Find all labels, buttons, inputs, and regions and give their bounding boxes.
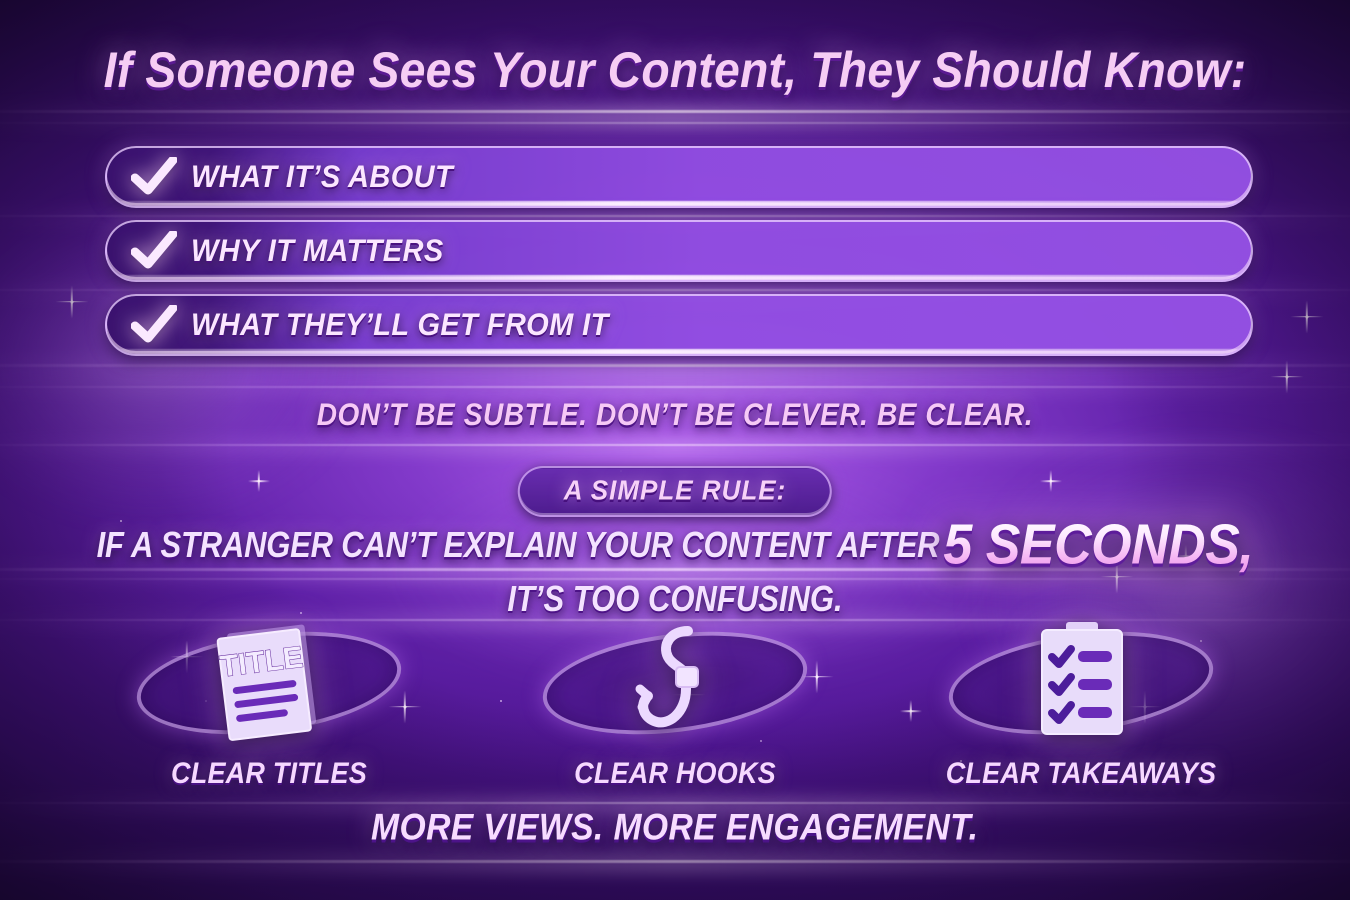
icon-row: TITLE CLEAR TITLES bbox=[0, 612, 1350, 789]
feature-clear-hooks[interactable]: CLEAR HOOKS bbox=[530, 612, 820, 789]
checklist-item-3[interactable]: WHAT THEY’LL GET FROM IT bbox=[105, 294, 1253, 356]
simple-rule-badge-label: A SIMPLE RULE: bbox=[564, 474, 786, 507]
check-icon bbox=[117, 305, 191, 345]
tagline-text: DON’T BE SUBTLE. DON’T BE CLEVER. BE CLE… bbox=[0, 397, 1350, 433]
document-title-icon: TITLE bbox=[124, 612, 414, 752]
footer-label: MORE VIEWS. MORE ENGAGEMENT. bbox=[371, 806, 978, 849]
feature-art: TITLE bbox=[124, 612, 414, 752]
fishing-hook-icon bbox=[530, 612, 820, 752]
checklist-item-1[interactable]: WHAT IT’S ABOUT bbox=[105, 146, 1253, 208]
checklist-item-label: WHY IT MATTERS bbox=[191, 233, 444, 269]
feature-label: CLEAR TITLES bbox=[171, 756, 367, 790]
rule-lead-text: IF A STRANGER CAN’T EXPLAIN YOUR CONTENT… bbox=[97, 526, 940, 563]
checklist-item-label: WHAT THEY’LL GET FROM IT bbox=[191, 307, 609, 343]
footer-text: MORE VIEWS. MORE ENGAGEMENT. bbox=[0, 808, 1350, 846]
feature-clear-titles[interactable]: TITLE CLEAR TITLES bbox=[124, 612, 414, 789]
checklist-item-label: WHAT IT’S ABOUT bbox=[191, 159, 453, 195]
clipboard-checklist-icon bbox=[936, 612, 1226, 752]
rule-line-1: IF A STRANGER CAN’T EXPLAIN YOUR CONTENT… bbox=[0, 519, 1350, 571]
checklist-item-2[interactable]: WHY IT MATTERS bbox=[105, 220, 1253, 282]
content-layer: If Someone Sees Your Content, They Shoul… bbox=[0, 0, 1350, 900]
feature-art bbox=[936, 612, 1226, 752]
feature-clear-takeaways[interactable]: CLEAR TAKEAWAYS bbox=[936, 612, 1226, 789]
check-icon bbox=[117, 231, 191, 271]
check-icon bbox=[117, 157, 191, 197]
simple-rule-badge: A SIMPLE RULE: bbox=[518, 466, 832, 517]
rule-emphasis-text: 5 SECONDS, bbox=[943, 517, 1253, 573]
infographic-canvas: If Someone Sees Your Content, They Shoul… bbox=[0, 0, 1350, 900]
page-title: If Someone Sees Your Content, They Shoul… bbox=[0, 41, 1350, 99]
feature-art bbox=[530, 612, 820, 752]
feature-label: CLEAR TAKEAWAYS bbox=[946, 756, 1217, 790]
feature-label: CLEAR HOOKS bbox=[574, 756, 776, 790]
